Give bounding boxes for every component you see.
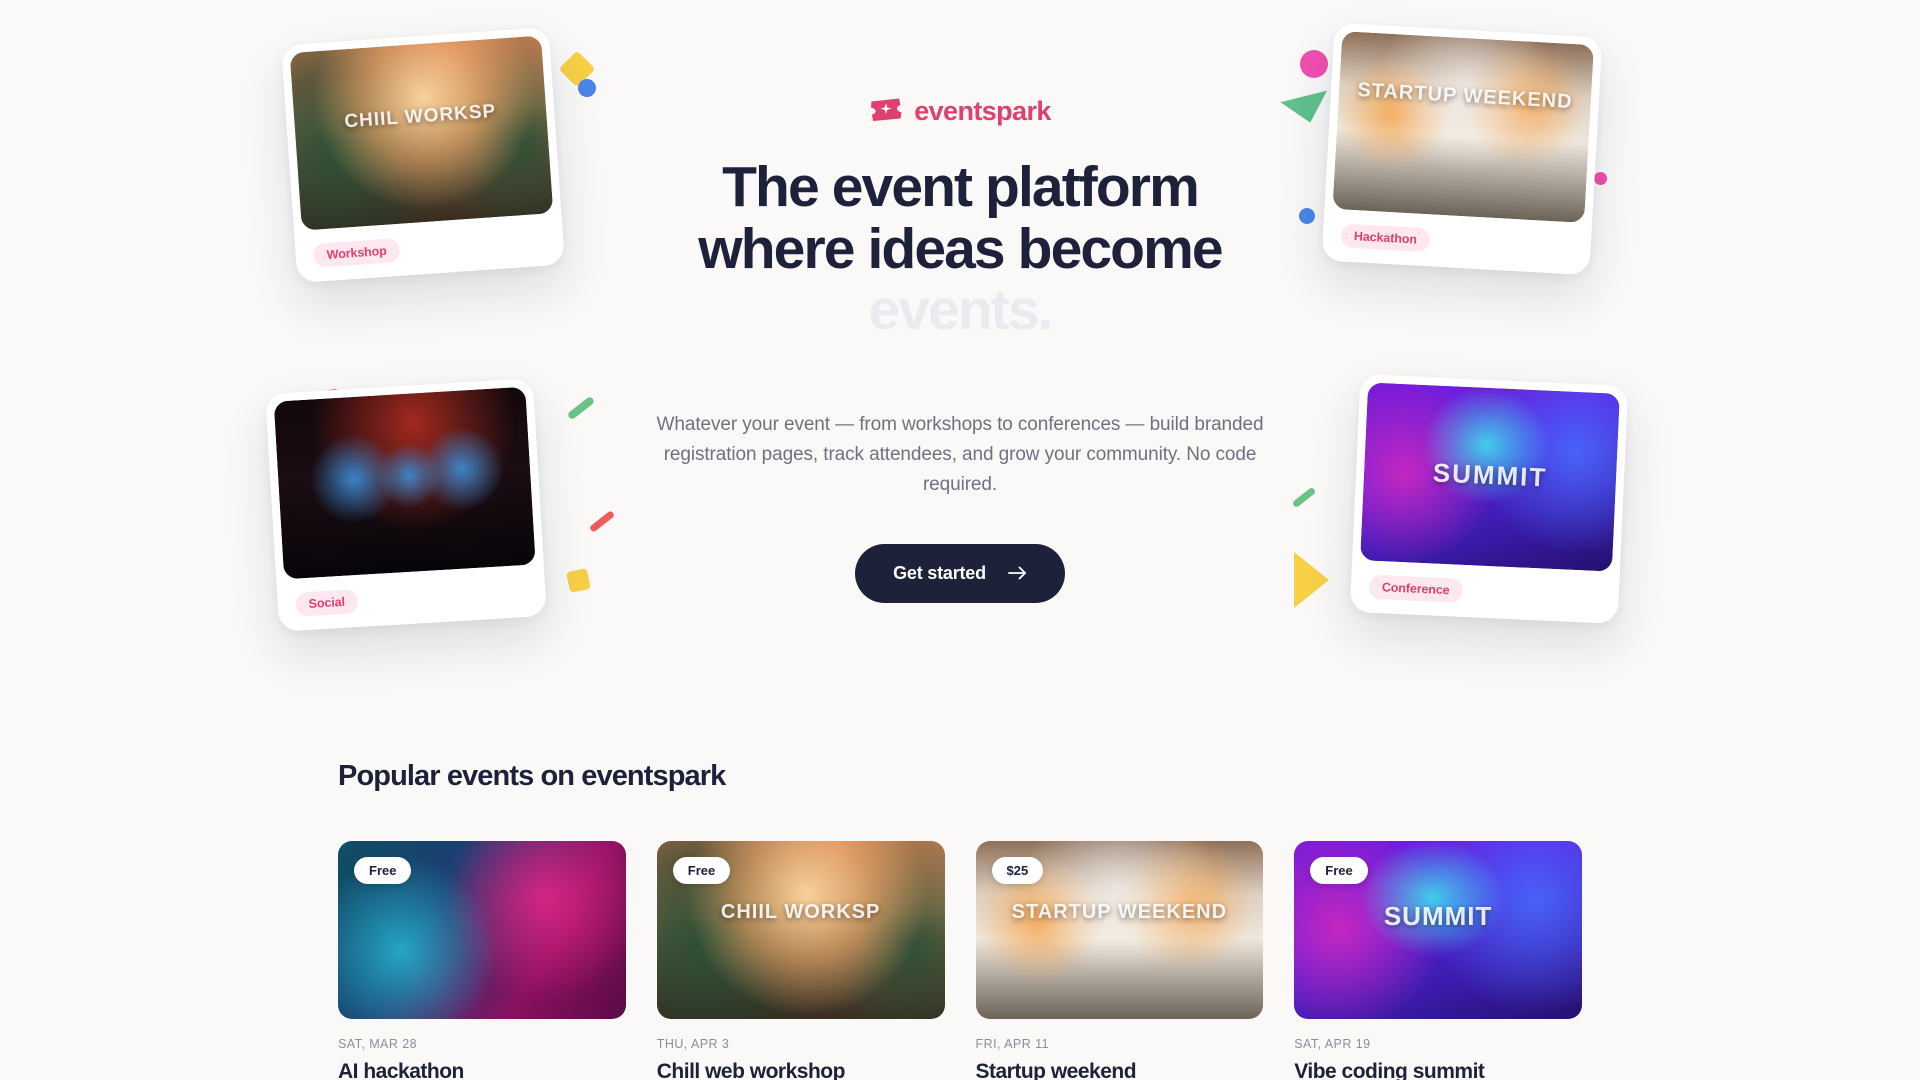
event-date: FRI, APR 11 [976, 1037, 1264, 1051]
green-triangle-right-shape [1280, 91, 1333, 129]
thumbnail-caption: STARTUP WEEKEND [1339, 79, 1592, 114]
headline-line-3: events. [640, 280, 1280, 342]
event-title[interactable]: Chill web workshop [657, 1060, 945, 1080]
floating-card-workshop[interactable]: CHIIL WORKSP Workshop [281, 27, 565, 283]
hero-section: CHIIL WORKSP Workshop STARTUP WEEKEND Ha… [0, 0, 1920, 700]
get-started-button[interactable]: Get started [855, 544, 1065, 603]
get-started-label: Get started [893, 563, 986, 584]
yellow-triangle-conf-shape [1294, 552, 1329, 608]
event-date: SAT, APR 19 [1294, 1037, 1582, 1051]
price-badge: Free [1310, 857, 1367, 884]
event-title[interactable]: AI hackathon [338, 1060, 626, 1080]
thumbnail-caption: SUMMIT [1294, 901, 1582, 932]
event-title[interactable]: Startup weekend [976, 1060, 1264, 1080]
thumbnail-caption: STARTUP WEEKEND [976, 901, 1264, 924]
event-card[interactable]: STARTUP WEEKEND$25FRI, APR 11Startup wee… [976, 841, 1264, 1080]
thumbnail-caption [278, 457, 530, 472]
event-title[interactable]: Vibe coding summit [1294, 1060, 1582, 1080]
event-card[interactable]: CHIIL WORKSPFreeTHU, APR 3Chill web work… [657, 841, 945, 1080]
arrow-right-icon [1008, 566, 1027, 580]
event-date: SAT, MAR 28 [338, 1037, 626, 1051]
price-badge: Free [354, 857, 411, 884]
ticket-spark-icon [869, 96, 903, 127]
headline-line-1: The event platform [640, 157, 1280, 219]
blue-circle-right-shape [1299, 208, 1315, 224]
thumbnail-caption: CHIIL WORKSP [294, 97, 547, 137]
floating-card-social[interactable]: Social [265, 378, 547, 631]
category-chip[interactable]: Social [295, 589, 359, 617]
price-badge: $25 [992, 857, 1044, 884]
floating-card-thumbnail: STARTUP WEEKEND [1332, 31, 1594, 223]
category-chip[interactable]: Hackathon [1340, 223, 1430, 252]
price-badge: Free [673, 857, 730, 884]
cta-row: Get started [640, 544, 1280, 603]
section-title: Popular events on eventspark [338, 760, 1582, 793]
blue-circle-left-shape [578, 79, 596, 97]
category-chip[interactable]: Conference [1368, 575, 1463, 603]
page-title: The event platform where ideas become ev… [640, 157, 1280, 342]
headline-line-2: where ideas become [640, 219, 1280, 281]
brand-lockup[interactable]: eventspark [640, 96, 1280, 127]
green-bar-social-shape [567, 396, 596, 421]
floating-card-conference[interactable]: SUMMIT Conference [1350, 374, 1629, 624]
hero-content: eventspark The event platform where idea… [640, 96, 1280, 603]
red-bar-social-shape [589, 510, 615, 533]
event-card[interactable]: SUMMITFreeSAT, APR 19Vibe coding summit [1294, 841, 1582, 1080]
pink-dot-right-shape [1594, 172, 1607, 185]
event-card[interactable]: FreeSAT, MAR 28AI hackathon [338, 841, 626, 1080]
thumbnail-caption: CHIIL WORKSP [657, 901, 945, 924]
floating-card-thumbnail: SUMMIT [1360, 382, 1620, 571]
floating-card-thumbnail: CHIIL WORKSP [290, 35, 554, 230]
pink-circle-right-shape [1300, 50, 1328, 78]
category-chip[interactable]: Workshop [313, 238, 401, 268]
event-date: THU, APR 3 [657, 1037, 945, 1051]
events-grid: FreeSAT, MAR 28AI hackathonCHIIL WORKSPF… [338, 841, 1582, 1080]
hero-subcopy: Whatever your event — from workshops to … [640, 410, 1280, 500]
thumbnail-caption: SUMMIT [1363, 454, 1616, 496]
yellow-square-social-shape [566, 568, 591, 593]
popular-events-section: Popular events on eventspark FreeSAT, MA… [0, 760, 1920, 1080]
green-bar-conf-shape [1292, 487, 1317, 509]
floating-card-thumbnail [274, 387, 536, 580]
brand-name: eventspark [914, 96, 1051, 127]
floating-card-hackathon[interactable]: STARTUP WEEKEND Hackathon [1322, 23, 1603, 276]
